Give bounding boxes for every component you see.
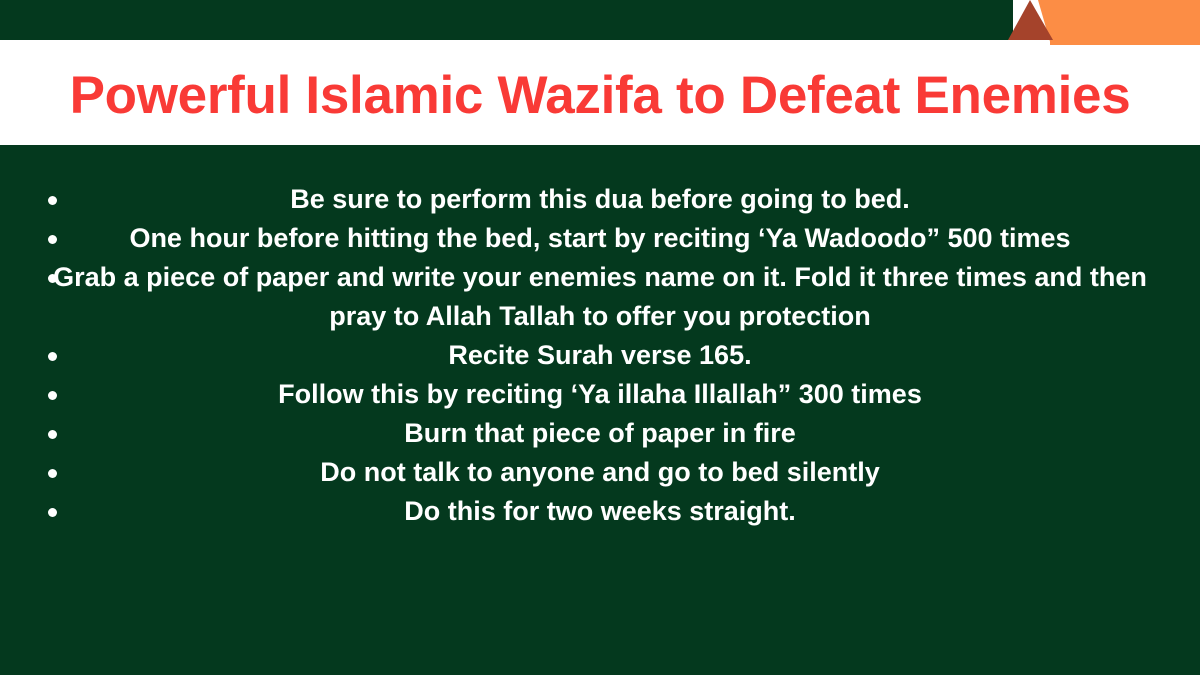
decor-triangle-icon [1008, 0, 1053, 40]
title-strip: Powerful Islamic Wazifa to Defeat Enemie… [0, 45, 1200, 145]
list-item-label: Do not talk to anyone and go to bed sile… [36, 453, 1164, 492]
bullet-dot-icon [48, 469, 57, 478]
bullet-dot-icon [48, 196, 57, 205]
top-decoration-band [0, 0, 1200, 45]
list-item: Burn that piece of paper in fire [28, 414, 1172, 453]
slide: Powerful Islamic Wazifa to Defeat Enemie… [0, 0, 1200, 675]
list-item: Be sure to perform this dua before going… [28, 180, 1172, 219]
content-panel: Be sure to perform this dua before going… [0, 145, 1200, 675]
list-item-label: Do this for two weeks straight. [36, 492, 1164, 531]
list-item: Grab a piece of paper and write your ene… [28, 258, 1172, 336]
list-item: Recite Surah verse 165. [28, 336, 1172, 375]
decor-orange-bar [1050, 0, 1200, 45]
bullet-dot-icon [48, 235, 57, 244]
bullet-dot-icon [48, 352, 57, 361]
list-item-label: Follow this by reciting ‘Ya illaha Illal… [36, 375, 1164, 414]
bullet-dot-icon [48, 274, 57, 283]
list-item-label: Recite Surah verse 165. [36, 336, 1164, 375]
list-item: Do this for two weeks straight. [28, 492, 1172, 531]
bullet-dot-icon [48, 430, 57, 439]
page-title: Powerful Islamic Wazifa to Defeat Enemie… [70, 69, 1131, 122]
list-item-label: Burn that piece of paper in fire [36, 414, 1164, 453]
list-item-label: Be sure to perform this dua before going… [36, 180, 1164, 219]
list-item-label: One hour before hitting the bed, start b… [36, 219, 1164, 258]
bullet-dot-icon [48, 391, 57, 400]
list-item: Follow this by reciting ‘Ya illaha Illal… [28, 375, 1172, 414]
bullet-list: Be sure to perform this dua before going… [0, 145, 1200, 531]
list-item-label: Grab a piece of paper and write your ene… [36, 258, 1164, 336]
decor-green-bar [0, 0, 1013, 40]
list-item: One hour before hitting the bed, start b… [28, 219, 1172, 258]
bullet-dot-icon [48, 508, 57, 517]
list-item: Do not talk to anyone and go to bed sile… [28, 453, 1172, 492]
